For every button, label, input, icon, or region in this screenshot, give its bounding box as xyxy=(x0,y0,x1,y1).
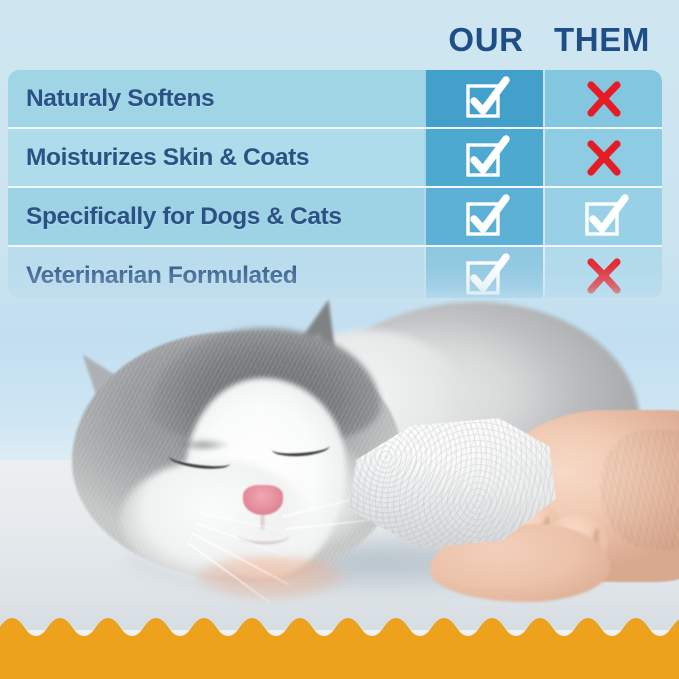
table-row: Naturaly Softens xyxy=(8,70,662,127)
them-cell xyxy=(543,247,662,298)
checkbox-checked-icon xyxy=(462,135,508,181)
feature-label: Veterinarian Formulated xyxy=(26,262,297,290)
cat-fur-texture xyxy=(72,326,412,586)
our-cell xyxy=(424,70,543,127)
product-photo xyxy=(0,270,679,630)
feature-cell: Naturaly Softens xyxy=(8,70,424,127)
feature-cell: Specifically for Dogs & Cats xyxy=(8,188,424,245)
our-cell xyxy=(424,129,543,186)
column-header-them: THEM xyxy=(540,21,664,59)
them-cell xyxy=(543,188,662,245)
wave-shape xyxy=(0,587,679,679)
table-row: Veterinarian Formulated xyxy=(8,245,662,298)
table-row: Moisturizes Skin & Coats xyxy=(8,127,662,186)
checkbox-checked-icon xyxy=(581,194,627,240)
them-cell xyxy=(543,129,662,186)
feature-cell: Moisturizes Skin & Coats xyxy=(8,129,424,186)
cat-nose xyxy=(243,485,283,515)
orange-wave-band xyxy=(0,587,679,679)
table-row: Specifically for Dogs & Cats xyxy=(8,186,662,245)
cat-brow xyxy=(176,438,230,450)
our-cell xyxy=(424,247,543,298)
red-x-icon xyxy=(583,78,625,120)
feature-label: Naturaly Softens xyxy=(26,85,214,113)
checkbox-checked-icon xyxy=(462,194,508,240)
feature-label: Moisturizes Skin & Coats xyxy=(26,144,309,172)
infographic-canvas: OUR THEM Naturaly Softens Moi xyxy=(0,0,679,679)
comparison-table: Naturaly Softens Moisturizes Skin & Coat… xyxy=(8,70,662,298)
checkbox-checked-icon xyxy=(462,253,508,299)
our-cell xyxy=(424,188,543,245)
red-x-icon xyxy=(583,137,625,179)
red-x-icon xyxy=(583,255,625,297)
feature-label: Specifically for Dogs & Cats xyxy=(26,203,342,231)
checkbox-checked-icon xyxy=(462,76,508,122)
feature-cell: Veterinarian Formulated xyxy=(8,247,424,298)
column-header-our: OUR xyxy=(438,21,534,59)
them-cell xyxy=(543,70,662,127)
